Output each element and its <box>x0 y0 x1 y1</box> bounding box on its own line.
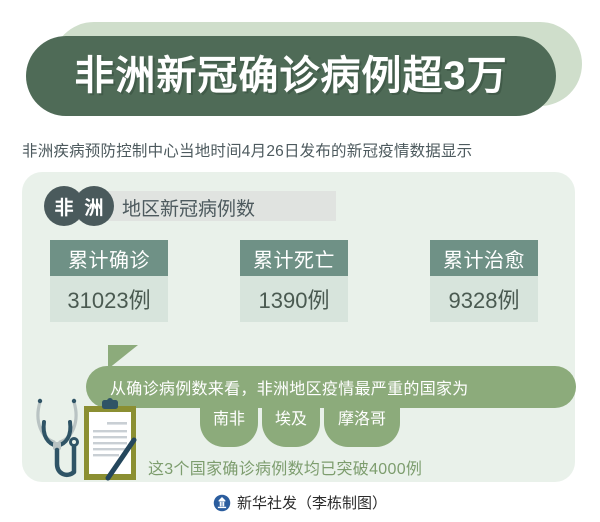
footer-credit: 新华社发（李栋制图） <box>237 492 387 513</box>
section-title: 地区新冠病例数 <box>122 194 255 221</box>
footer: 新华社发（李栋制图） <box>0 492 600 513</box>
page-title: 非洲新冠确诊病例超3万 <box>74 56 507 96</box>
xinhua-logo-icon <box>213 494 231 512</box>
title-area: 非洲新冠确诊病例超3万 <box>0 0 600 128</box>
stat-value-confirmed: 31023例 <box>50 276 168 322</box>
stat-label-recovered: 累计治愈 <box>430 240 538 276</box>
medical-illustration <box>22 392 172 488</box>
stethoscope-clipboard-icon <box>22 392 172 488</box>
subtitle-text: 非洲疾病预防控制中心当地时间4月26日发布的新冠疫情数据显示 <box>22 139 582 161</box>
footnote-text: 这3个国家确诊病例数均已突破4000例 <box>148 455 422 479</box>
stat-label-confirmed: 累计确诊 <box>50 240 168 276</box>
country-pill-egypt: 埃及 <box>262 401 320 447</box>
stats-row: 累计确诊 31023例 累计死亡 1390例 累计治愈 9328例 <box>22 240 575 330</box>
stat-block-deaths: 累计死亡 1390例 <box>240 240 348 322</box>
stat-label-deaths: 累计死亡 <box>240 240 348 276</box>
stat-block-confirmed: 累计确诊 31023例 <box>50 240 168 322</box>
country-pill-morocco: 摩洛哥 <box>324 401 400 447</box>
stat-value-recovered: 9328例 <box>430 276 538 322</box>
stat-block-recovered: 累计治愈 9328例 <box>430 240 538 322</box>
region-badge-char-2: 洲 <box>74 186 114 226</box>
country-pill-south-africa: 南非 <box>200 401 258 447</box>
stat-value-deaths: 1390例 <box>240 276 348 322</box>
title-pill: 非洲新冠确诊病例超3万 <box>26 36 556 116</box>
